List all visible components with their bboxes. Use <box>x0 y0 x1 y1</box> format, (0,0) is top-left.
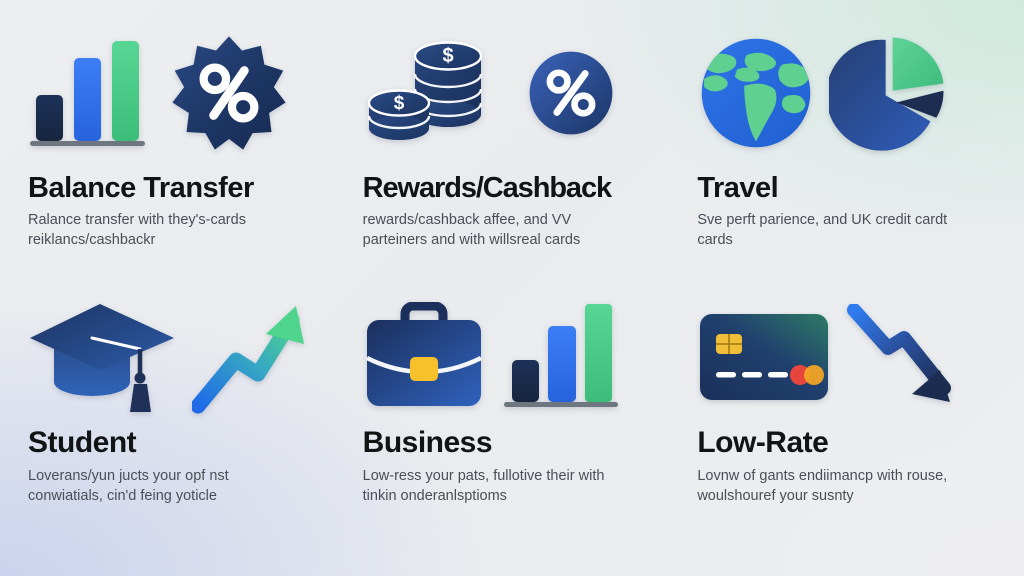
card-balance-transfer[interactable]: Balance Transfer Ralance transfer with t… <box>10 14 345 290</box>
icon-group-rewards-cashback: $ $ <box>355 14 666 172</box>
card-title: Rewards/Cashback <box>363 172 666 204</box>
percent-circle-icon <box>527 49 615 137</box>
card-description: Lovnw of gants endiimancp with rouse, wo… <box>697 466 965 506</box>
credit-card-icon <box>697 308 832 408</box>
card-rewards-cashback[interactable]: $ $ <box>345 14 680 290</box>
card-title: Balance Transfer <box>28 172 331 204</box>
globe-icon <box>697 34 815 152</box>
text-block-business: Business Low-ress your pats, fullotive t… <box>355 426 666 506</box>
card-title: Business <box>363 426 666 460</box>
card-business[interactable]: Business Low-ress your pats, fullotive t… <box>345 290 680 566</box>
text-block-low-rate: Low-Rate Lovnw of gants endiimancp with … <box>689 426 1000 506</box>
pie-chart-icon <box>829 34 947 152</box>
bar-chart-icon <box>502 304 620 412</box>
card-description: Sve perft parience, and UK credit cardt … <box>697 210 965 250</box>
icon-group-travel <box>689 14 1000 172</box>
icon-group-balance-transfer <box>20 14 331 172</box>
briefcase-icon <box>363 302 488 414</box>
text-block-student: Student Loverans/yun jucts your opf nst … <box>20 426 331 506</box>
card-travel[interactable]: Travel Sve perft parience, and UK credit… <box>679 14 1014 290</box>
svg-text:$: $ <box>393 93 404 114</box>
graduation-cap-icon <box>28 298 178 418</box>
bar-chart-icon <box>28 33 156 153</box>
card-student[interactable]: Student Loverans/yun jucts your opf nst … <box>10 290 345 566</box>
text-block-rewards-cashback: Rewards/Cashback rewards/cashback affee,… <box>355 172 666 250</box>
card-title: Travel <box>697 172 1000 204</box>
text-block-travel: Travel Sve perft parience, and UK credit… <box>689 172 1000 250</box>
svg-text:$: $ <box>442 45 453 67</box>
trend-down-arrow-icon <box>846 304 966 412</box>
percent-badge-icon <box>170 34 288 152</box>
card-description: rewards/cashback affee, and VV parteiner… <box>363 210 631 250</box>
icon-group-business <box>355 290 666 426</box>
text-block-balance-transfer: Balance Transfer Ralance transfer with t… <box>20 172 331 250</box>
icon-group-student <box>20 290 331 426</box>
trend-up-arrow-icon <box>192 302 312 414</box>
poster-canvas: Balance Transfer Ralance transfer with t… <box>0 0 1024 576</box>
card-description: Loverans/yun jucts your opf nst conwiati… <box>28 466 296 506</box>
card-description: Low-ress your pats, fullotive their with… <box>363 466 631 506</box>
card-description: Ralance transfer with they's-cards reikl… <box>28 210 296 250</box>
card-title: Student <box>28 426 331 460</box>
category-grid: Balance Transfer Ralance transfer with t… <box>0 0 1024 576</box>
card-title: Low-Rate <box>697 426 1000 460</box>
icon-group-low-rate <box>689 290 1000 426</box>
coin-stack-icon: $ $ <box>363 31 513 156</box>
card-low-rate[interactable]: Low-Rate Lovnw of gants endiimancp with … <box>679 290 1014 566</box>
